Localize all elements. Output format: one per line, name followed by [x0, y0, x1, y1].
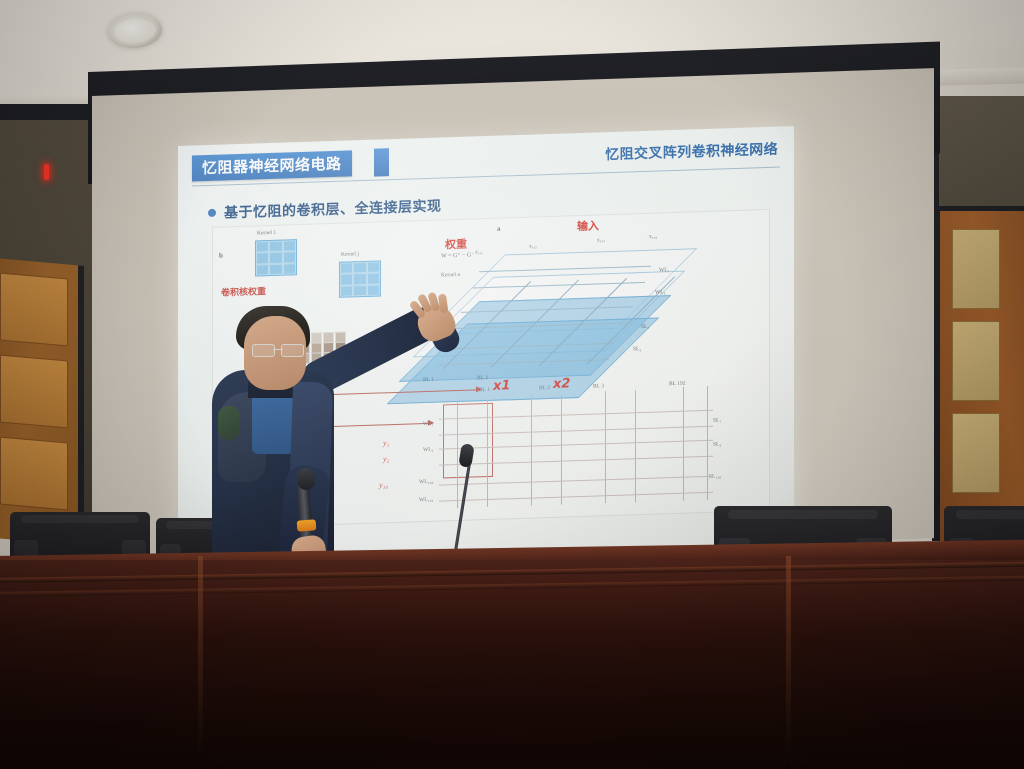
slide-section-title: 忆阻交叉阵列卷积神经网络	[605, 139, 778, 165]
right-wall-upper-dark-panel	[932, 96, 1024, 214]
kernel-j-label: Kernel j	[341, 251, 359, 258]
bullet-dot-icon	[208, 209, 216, 217]
crossbar-input-label-4: x₁,₄	[649, 234, 657, 240]
left-door[interactable]	[0, 258, 84, 546]
multiplier-x2-label: x2	[553, 376, 570, 392]
slide-title-chip: 忆阻器神经网络电路	[192, 150, 352, 181]
bitline-label-2: BL 2	[539, 385, 550, 391]
crossbar-wl-label-1: WL₁	[659, 267, 669, 273]
sl-label-1: SL₁	[713, 417, 721, 423]
sl-label-2: SL₂	[713, 441, 721, 447]
desk-seam-right	[786, 556, 791, 769]
bitline-label-1: BL 1	[479, 387, 490, 393]
crossbar-input-label-1: x₁,₁	[475, 249, 483, 255]
slide-bullet: 基于忆阻的卷积层、全连接层实现	[208, 195, 442, 223]
desk-seam-left	[198, 556, 203, 769]
crossbar-sl-label-1: SL₁	[641, 324, 649, 330]
kernel-1-label: Kernel 1	[257, 230, 276, 237]
eyeglasses-icon	[252, 344, 304, 355]
kernel-1-grid	[255, 239, 297, 276]
red-led-indicator-icon	[44, 164, 49, 180]
figure-panel-a-letter: a	[497, 225, 501, 233]
slide-bullet-label: 基于忆阻的卷积层、全连接层实现	[224, 195, 442, 222]
presentation-scene-photo: 忆阻器神经网络电路 忆阻交叉阵列卷积神经网络 基于忆阻的卷积层、全连接层实现 b…	[0, 0, 1024, 769]
crossbar-input-label-3: x₁,₃	[597, 237, 605, 243]
presenter-jacket-patch	[218, 406, 240, 440]
crossbar-wl-label-2: WL₂	[655, 289, 665, 295]
handheld-microphone-head-icon	[296, 467, 315, 490]
handheld-microphone-band	[297, 519, 317, 531]
right-door[interactable]	[932, 206, 1024, 541]
slide-title-accent-tab	[374, 148, 389, 176]
crossbar-sl-label-2: SL₂	[633, 346, 641, 352]
input-red-label: 输入	[577, 217, 599, 234]
figure-panel-b-letter: b	[219, 252, 223, 260]
crossbar-input-label-2: x₁,₂	[529, 243, 537, 249]
bitline-label-3: BL 3	[593, 383, 604, 389]
multiplier-x1-label: x1	[493, 378, 510, 394]
kernel-j-grid	[339, 260, 381, 297]
